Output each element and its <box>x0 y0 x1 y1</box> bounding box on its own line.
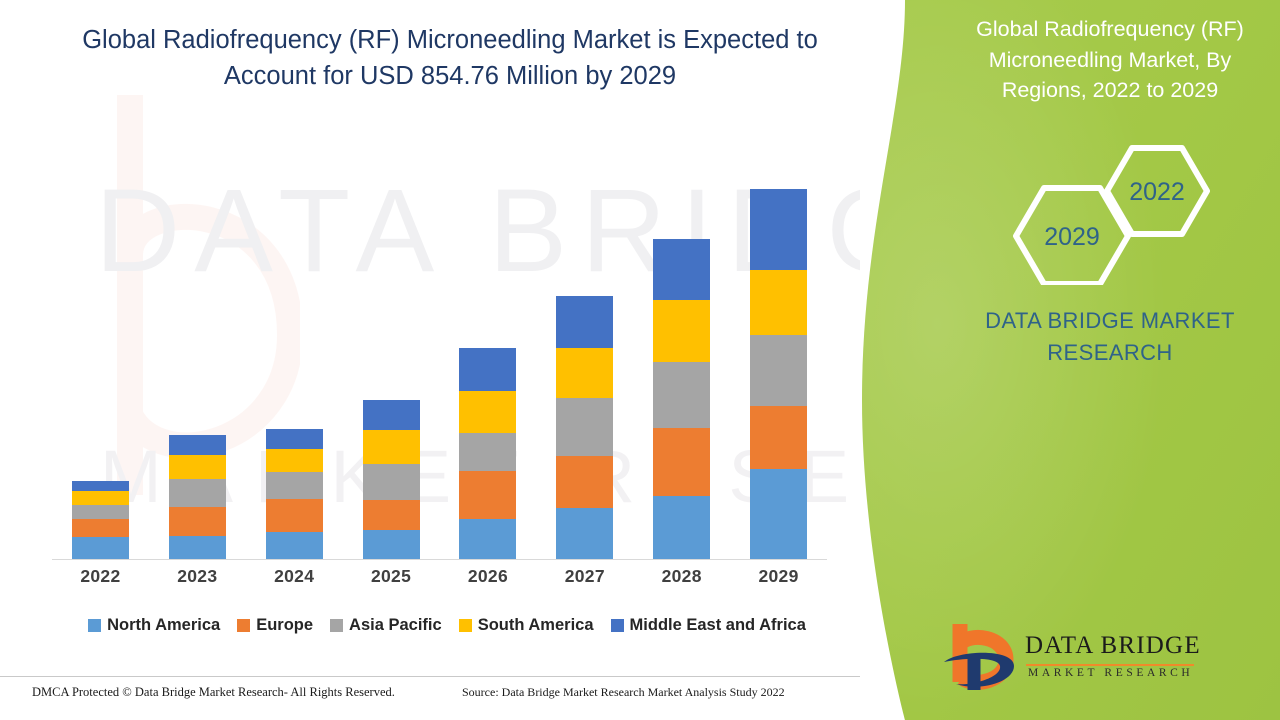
bar-slot <box>149 123 246 559</box>
bar-segment[interactable] <box>363 530 420 559</box>
bar-slot <box>52 123 149 559</box>
chart-plot-area <box>52 120 842 560</box>
bar-slot <box>343 123 440 559</box>
legend-item[interactable]: Asia Pacific <box>330 616 442 635</box>
bar-segment[interactable] <box>653 428 710 496</box>
legend-swatch <box>459 619 472 632</box>
logo-name: DATA BRIDGE <box>1025 632 1201 660</box>
bar-segment[interactable] <box>750 270 807 335</box>
hexagon-badges: 2022 2029 <box>980 140 1240 285</box>
legend-item[interactable]: North America <box>88 616 220 635</box>
bar-segment[interactable] <box>169 479 226 507</box>
bar-segment[interactable] <box>72 519 129 537</box>
legend-item[interactable]: Middle East and Africa <box>611 616 806 635</box>
hexagon-2022-label: 2022 <box>1129 178 1185 206</box>
bar-segment[interactable] <box>750 469 807 559</box>
bar-slot <box>730 123 827 559</box>
legend-label: Europe <box>256 616 313 635</box>
legend-swatch <box>237 619 250 632</box>
source-note: Source: Data Bridge Market Research Mark… <box>462 685 785 700</box>
legend-item[interactable]: South America <box>459 616 594 635</box>
x-axis-tick-label: 2024 <box>246 566 343 587</box>
x-axis-tick-label: 2025 <box>343 566 440 587</box>
x-axis-tick-label: 2029 <box>730 566 827 587</box>
dmca-notice: DMCA Protected © Data Bridge Market Rese… <box>32 685 395 700</box>
x-axis-tick-label: 2028 <box>633 566 730 587</box>
bar-segment[interactable] <box>363 464 420 500</box>
bar-segment[interactable] <box>556 456 613 508</box>
data-bridge-mark-icon <box>940 618 1030 696</box>
bar-segment[interactable] <box>266 429 323 449</box>
bar-segment[interactable] <box>459 519 516 559</box>
bar-segment[interactable] <box>266 532 323 559</box>
data-bridge-logo: DATA BRIDGE MARKET RESEARCH <box>940 618 1205 698</box>
bar-segment[interactable] <box>653 496 710 559</box>
chart-legend: North AmericaEuropeAsia PacificSouth Ame… <box>52 616 842 635</box>
bar-segment[interactable] <box>72 505 129 519</box>
bar-segment[interactable] <box>72 481 129 491</box>
legend-item[interactable]: Europe <box>237 616 313 635</box>
bar-segment[interactable] <box>459 391 516 433</box>
stacked-bar[interactable] <box>653 239 710 559</box>
panel-title: Global Radiofrequency (RF) Microneedling… <box>948 14 1272 106</box>
bar-group <box>52 123 827 559</box>
x-axis-tick-label: 2023 <box>149 566 246 587</box>
bar-segment[interactable] <box>459 348 516 391</box>
legend-label: South America <box>478 616 594 635</box>
bar-segment[interactable] <box>169 435 226 455</box>
chart-title: Global Radiofrequency (RF) Microneedling… <box>70 22 830 94</box>
footer: DMCA Protected © Data Bridge Market Rese… <box>0 678 860 720</box>
logo-tagline: MARKET RESEARCH <box>1028 667 1193 679</box>
bar-segment[interactable] <box>363 430 420 464</box>
bar-segment[interactable] <box>169 536 226 559</box>
panel-content: Global Radiofrequency (RF) Microneedling… <box>940 0 1280 720</box>
bar-slot <box>246 123 343 559</box>
stacked-bar[interactable] <box>363 400 420 559</box>
x-axis-tick-label: 2027 <box>536 566 633 587</box>
bar-segment[interactable] <box>750 189 807 270</box>
bar-segment[interactable] <box>556 398 613 456</box>
bar-segment[interactable] <box>363 500 420 530</box>
hexagon-2029-label: 2029 <box>1044 223 1100 251</box>
bar-segment[interactable] <box>169 455 226 479</box>
stacked-bar[interactable] <box>556 296 613 559</box>
bar-segment[interactable] <box>169 507 226 536</box>
bar-slot <box>633 123 730 559</box>
legend-label: Middle East and Africa <box>630 616 806 635</box>
bar-segment[interactable] <box>266 449 323 472</box>
hexagon-2029: 2029 <box>1016 188 1128 284</box>
stacked-bar[interactable] <box>266 429 323 559</box>
bar-segment[interactable] <box>750 406 807 469</box>
bar-segment[interactable] <box>750 335 807 406</box>
bar-segment[interactable] <box>556 508 613 559</box>
bar-segment[interactable] <box>653 239 710 300</box>
legend-label: North America <box>107 616 220 635</box>
footer-divider <box>0 676 860 677</box>
legend-swatch <box>330 619 343 632</box>
bar-segment[interactable] <box>72 491 129 505</box>
bar-segment[interactable] <box>266 472 323 499</box>
bar-slot <box>440 123 537 559</box>
bar-segment[interactable] <box>556 348 613 398</box>
bar-segment[interactable] <box>459 433 516 471</box>
logo-underline <box>1026 664 1194 666</box>
bar-segment[interactable] <box>363 400 420 430</box>
bar-segment[interactable] <box>653 300 710 362</box>
panel-brand-text: DATA BRIDGE MARKET RESEARCH <box>950 305 1270 369</box>
bar-segment[interactable] <box>266 499 323 532</box>
bar-segment[interactable] <box>72 537 129 559</box>
stacked-bar[interactable] <box>72 481 129 559</box>
bar-segment[interactable] <box>459 471 516 519</box>
stacked-bar[interactable] <box>169 435 226 559</box>
bar-slot <box>536 123 633 559</box>
bar-segment[interactable] <box>653 362 710 428</box>
x-axis-labels: 20222023202420252026202720282029 <box>52 566 827 587</box>
x-axis-line <box>52 559 827 560</box>
x-axis-tick-label: 2026 <box>440 566 537 587</box>
stacked-bar[interactable] <box>459 348 516 559</box>
legend-swatch <box>611 619 624 632</box>
stacked-bar[interactable] <box>750 189 807 559</box>
bar-segment[interactable] <box>556 296 613 348</box>
legend-label: Asia Pacific <box>349 616 442 635</box>
legend-swatch <box>88 619 101 632</box>
x-axis-tick-label: 2022 <box>52 566 149 587</box>
infographic-canvas: DATA BRIDGE MARKET RESEARCH Global Radio… <box>0 0 1280 720</box>
